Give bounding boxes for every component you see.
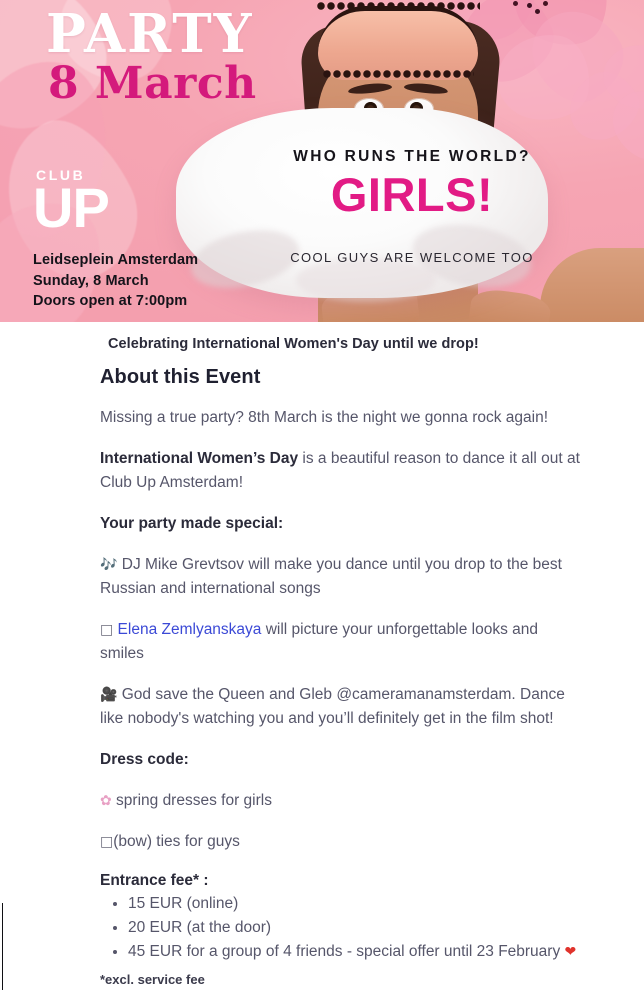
dress-code-item-guys: □(bow) ties for guys (100, 830, 582, 854)
club-up-logo: CLUB UP (33, 168, 109, 232)
event-page: PARTY 8 March CLUB UP Leidseplein Amster… (0, 0, 644, 990)
photographer-link[interactable]: Elena Zemlyanskaya (118, 621, 262, 638)
banner-date: 8 March (48, 62, 257, 106)
special-item-dj-text: DJ Mike Grevtsov will make you dance unt… (100, 556, 562, 597)
list-item: 15 EUR (online) (128, 892, 588, 916)
venue-details: Leidseplein Amsterdam Sunday, 8 March Do… (33, 250, 198, 312)
bowtie-icon: □ (100, 834, 113, 850)
camera-with-flash-icon: □ (100, 622, 113, 638)
red-heart-icon: ❤ (565, 944, 577, 960)
iwd-strong: International Women’s Day (100, 450, 298, 467)
banner-headline-big: GIRLS! (262, 170, 562, 219)
event-hero-banner: PARTY 8 March CLUB UP Leidseplein Amster… (0, 0, 644, 322)
cherry-blossom-icon: ✿ (100, 793, 112, 809)
list-item: 20 EUR (at the door) (128, 916, 588, 940)
special-heading-text: Your party made special: (100, 515, 283, 532)
movie-camera-icon: 🎥 (100, 687, 117, 703)
event-description: Celebrating International Women's Day un… (0, 322, 644, 987)
musical-notes-icon: 🎶 (100, 557, 117, 573)
special-item-photographer: □ Elena Zemlyanskaya will picture your u… (100, 618, 582, 666)
banner-subline: COOL GUYS ARE WELCOME TOO (262, 250, 562, 265)
sleep-mask-icon (318, 6, 478, 80)
dress-code-heading: Dress code: (100, 748, 582, 772)
event-tagline: Celebrating International Women's Day un… (108, 336, 644, 352)
fee-footnote: *excl. service fee (100, 972, 644, 987)
paragraph-iwd: International Women’s Day is a beautiful… (100, 447, 582, 495)
banner-title: PARTY (46, 8, 254, 61)
banner-headline-small: WHO RUNS THE WORLD? (262, 148, 562, 166)
fee-group-text: 45 EUR for a group of 4 friends - specia… (128, 943, 565, 960)
venue-line-day: Sunday, 8 March (33, 271, 198, 292)
entrance-fee-list: 15 EUR (online) 20 EUR (at the door) 45 … (100, 892, 588, 964)
dress-code-heading-text: Dress code: (100, 751, 189, 768)
venue-line-doors: Doors open at 7:00pm (33, 291, 198, 312)
about-section-heading: About this Event (100, 366, 644, 389)
list-item: 45 EUR for a group of 4 friends - specia… (128, 940, 588, 964)
dress-code-guys-text: (bow) ties for guys (113, 833, 240, 850)
special-item-dj: 🎶 DJ Mike Grevtsov will make you dance u… (100, 553, 582, 601)
venue-line-address: Leidseplein Amsterdam (33, 250, 198, 271)
cherry-blossom-decoration-icon (568, 44, 644, 154)
dress-code-girls-text: spring dresses for girls (112, 792, 272, 809)
special-item-videographer-text: God save the Queen and Gleb @cameramanam… (100, 686, 565, 727)
special-item-videographer: 🎥 God save the Queen and Gleb @cameraman… (100, 683, 582, 731)
paragraph-intro: Missing a true party? 8th March is the n… (100, 406, 582, 430)
about-body: Missing a true party? 8th March is the n… (100, 406, 582, 854)
logo-up-text: UP (33, 183, 109, 232)
dress-code-item-girls: ✿ spring dresses for girls (100, 789, 582, 813)
special-heading: Your party made special: (100, 512, 582, 536)
entrance-fee-heading: Entrance fee* : (100, 872, 644, 890)
